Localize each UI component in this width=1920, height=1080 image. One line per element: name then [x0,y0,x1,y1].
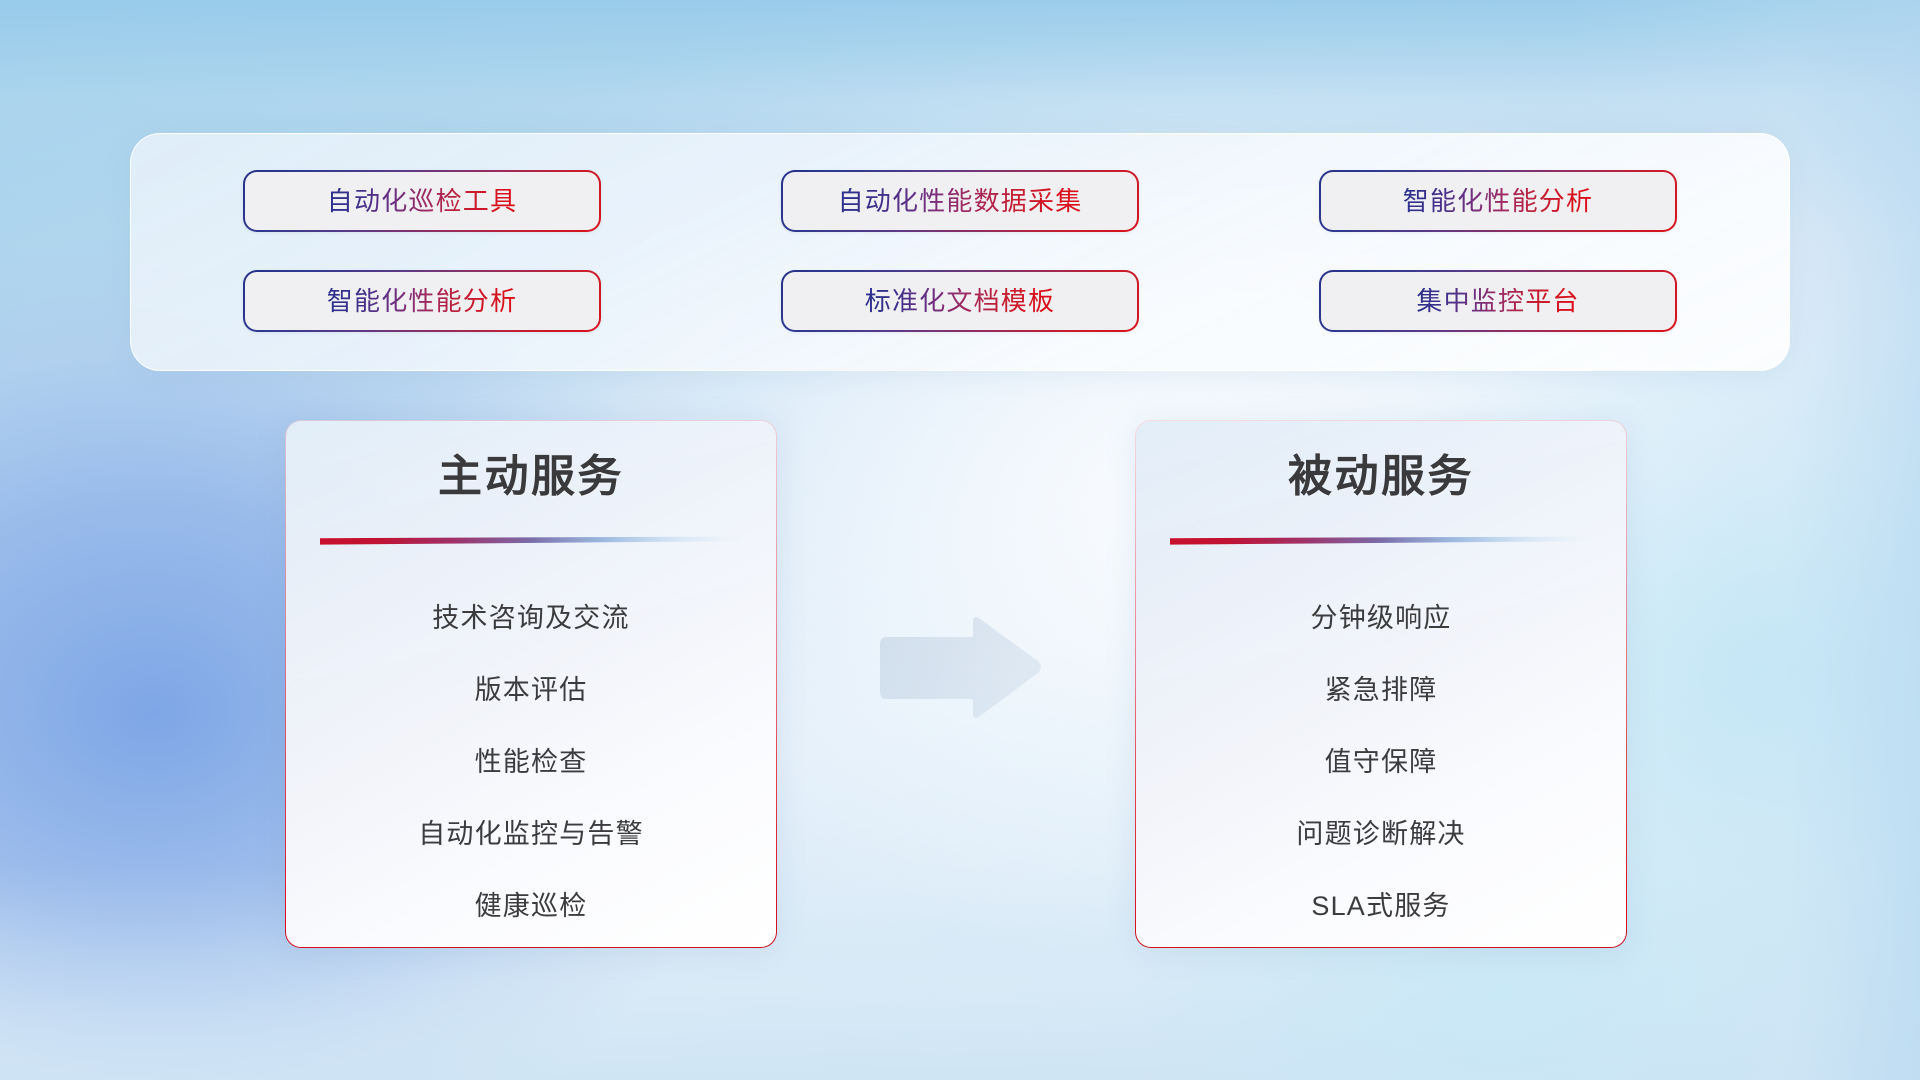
list-item[interactable]: 值守保障 [1325,723,1438,795]
pill-cell: 集中监控平台 [1271,258,1725,344]
list-item[interactable]: SLA式服务 [1311,867,1450,939]
pill-intelligent-performance-analysis-2[interactable]: 智能化性能分析 [243,270,601,332]
list-item[interactable]: 健康巡检 [475,867,588,939]
pill-label: 自动化巡检工具 [327,188,517,214]
pill-cell: 自动化性能数据采集 [733,158,1187,244]
pill-cell: 智能化性能分析 [1271,158,1725,244]
card-title: 被动服务 [1136,453,1626,501]
pill-cell: 标准化文档模板 [733,258,1187,344]
right-arrow-icon [876,613,1044,723]
card-title: 主动服务 [286,453,776,501]
pill-label: 标准化文档模板 [865,288,1055,314]
list-item[interactable]: 问题诊断解决 [1296,795,1465,867]
card-item-list: 分钟级响应 紧急排障 值守保障 问题诊断解决 SLA式服务 [1136,579,1626,939]
list-item[interactable]: 性能检查 [475,723,588,795]
pill-cell: 自动化巡检工具 [195,158,649,244]
pill-centralized-monitoring-platform[interactable]: 集中监控平台 [1319,270,1677,332]
list-item[interactable]: 自动化监控与告警 [418,795,644,867]
card-item-list: 技术咨询及交流 版本评估 性能检查 自动化监控与告警 健康巡检 [286,579,776,939]
pill-automated-performance-data-collection[interactable]: 自动化性能数据采集 [781,170,1139,232]
pill-label: 智能化性能分析 [1403,188,1593,214]
pill-cell: 智能化性能分析 [195,258,649,344]
pill-label: 智能化性能分析 [327,288,517,314]
pill-intelligent-performance-analysis-1[interactable]: 智能化性能分析 [1319,170,1677,232]
pill-standardized-document-template[interactable]: 标准化文档模板 [781,270,1139,332]
capability-tags-grid: 自动化巡检工具 自动化性能数据采集 智能化性能分析 智能化性能分析 [131,134,1789,370]
pill-automated-inspection-tools[interactable]: 自动化巡检工具 [243,170,601,232]
list-item[interactable]: 版本评估 [475,651,588,723]
pill-label: 集中监控平台 [1416,288,1579,314]
capability-tags-panel: 自动化巡检工具 自动化性能数据采集 智能化性能分析 智能化性能分析 [130,133,1790,371]
card-title-divider [1170,536,1592,545]
card-reactive-service[interactable]: 被动服务 分钟级响应 紧急排障 [1135,420,1627,948]
diagram-canvas: 自动化巡检工具 自动化性能数据采集 智能化性能分析 智能化性能分析 [0,0,1920,1080]
card-title-divider [320,536,742,545]
pill-label: 自动化性能数据采集 [838,188,1083,214]
list-item[interactable]: 分钟级响应 [1311,579,1452,651]
card-proactive-service[interactable]: 主动服务 技术咨询及交流 版本评估 [285,420,777,948]
list-item[interactable]: 紧急排障 [1325,651,1438,723]
list-item[interactable]: 技术咨询及交流 [432,579,629,651]
